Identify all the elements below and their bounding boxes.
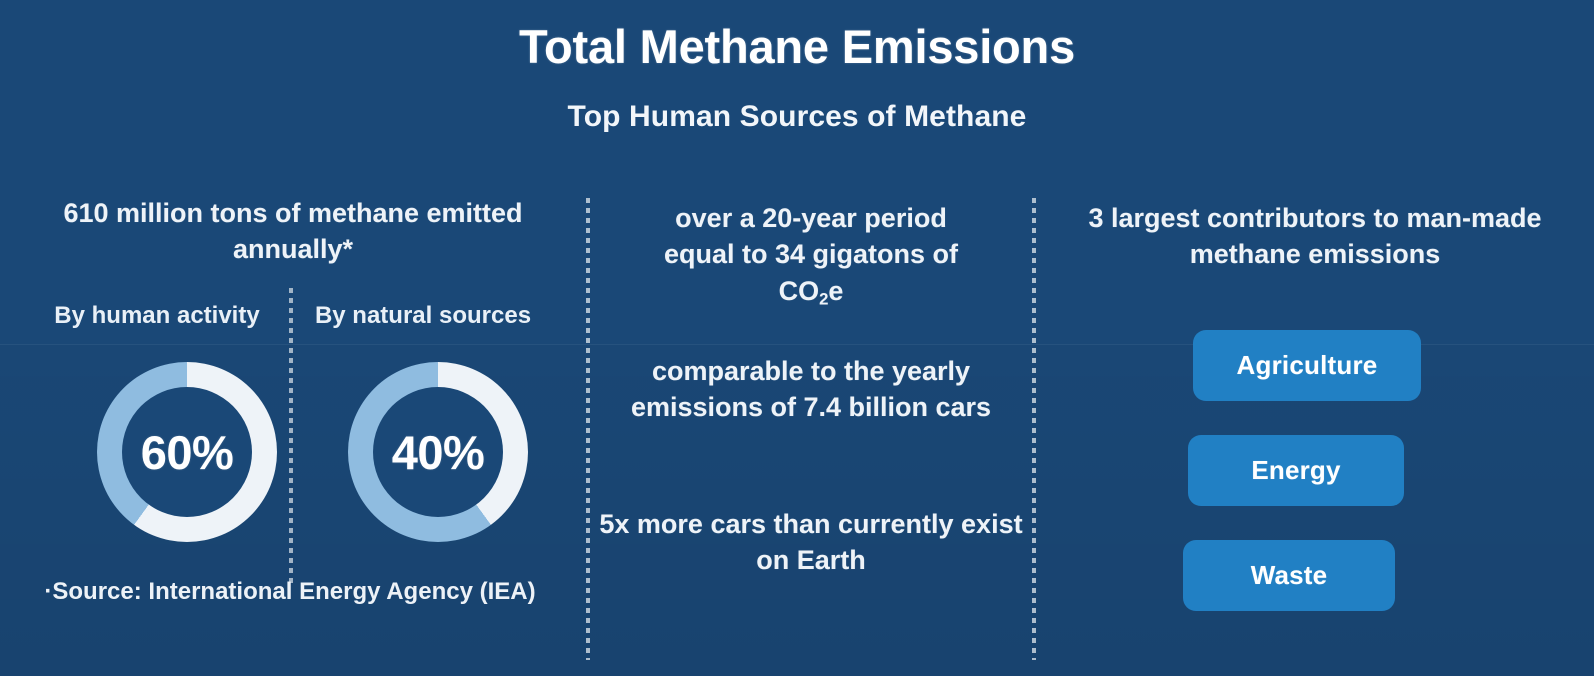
donut-label-human-activity: By human activity [34, 302, 280, 331]
left-column: 610 million tons of methane emitted annu… [0, 0, 586, 676]
donut-chart-natural-sources: 40% [348, 362, 528, 542]
middle-stat-co2e-formula: CO2e [779, 276, 844, 306]
middle-column: over a 20-year period equal to 34 gigato… [590, 0, 1032, 676]
middle-stat-co2e: over a 20-year period equal to 34 gigato… [596, 200, 1026, 311]
contributor-pill-agriculture[interactable]: Agriculture [1193, 330, 1421, 401]
donut-label-natural-sources: By natural sources [300, 302, 546, 331]
co2e-subscript: 2 [819, 290, 828, 309]
infographic-root: Total Methane Emissions Top Human Source… [0, 0, 1594, 676]
donut-value-natural: 40% [348, 362, 528, 542]
middle-stat-cars-multiple: 5x more cars than currently exist on Ear… [596, 506, 1026, 579]
middle-stat-co2e-line2: equal to 34 gigatons of [664, 239, 958, 269]
contributor-pill-waste[interactable]: Waste [1183, 540, 1395, 611]
middle-stat-co2e-line1: over a 20-year period [675, 203, 947, 233]
donut-chart-human-activity: 60% [97, 362, 277, 542]
co2e-suffix: e [828, 276, 843, 306]
source-note: ·Source: International Energy Agency (IE… [10, 578, 570, 606]
left-headline: 610 million tons of methane emitted annu… [28, 195, 558, 268]
right-headline: 3 largest contributors to man-made metha… [1050, 200, 1580, 273]
middle-stat-cars-equivalent: comparable to the yearly emissions of 7.… [596, 353, 1026, 426]
contributor-pill-list: Agriculture Energy Waste [1036, 330, 1594, 611]
donut-value-human: 60% [97, 362, 277, 542]
right-column: 3 largest contributors to man-made metha… [1036, 0, 1594, 676]
co2e-prefix: CO [779, 276, 820, 306]
divider-between-donuts [289, 288, 293, 584]
contributor-pill-energy[interactable]: Energy [1188, 435, 1404, 506]
